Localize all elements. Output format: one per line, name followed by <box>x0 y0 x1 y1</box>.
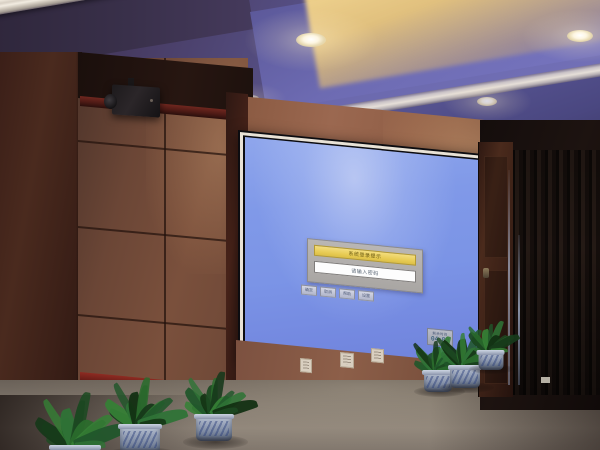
projector-status-led <box>150 99 153 102</box>
door-handle-icon[interactable] <box>483 268 489 278</box>
downlight-8-icon <box>567 30 593 42</box>
wall-outlet-right <box>340 352 354 368</box>
plant-left-3 <box>196 372 232 443</box>
dialog-button-1[interactable]: 确定 <box>301 284 317 296</box>
dialog-button-4[interactable]: 设置 <box>358 290 374 302</box>
wall-outlet-far <box>371 348 384 363</box>
projected-dialog[interactable]: 系统登录提示 请输入密码 <box>307 238 423 293</box>
downlight-1-icon <box>296 33 326 47</box>
dialog-button-3[interactable]: 帮助 <box>339 288 355 300</box>
plant-pot-rim <box>477 350 505 355</box>
plant-left-2 <box>120 378 160 450</box>
plant-pot-rim <box>49 445 101 450</box>
dialog-button-2[interactable]: 取消 <box>320 286 336 298</box>
door-panel-upper <box>484 156 508 258</box>
curtain-light-gap <box>518 235 520 385</box>
curtain-shading <box>512 150 600 395</box>
downlight-5-icon <box>477 97 497 106</box>
projector-lens-icon <box>104 94 117 109</box>
curtain-floor-object <box>541 377 550 383</box>
plant-pot <box>478 352 503 370</box>
plant-pot <box>196 416 232 441</box>
plant-right-3 <box>478 320 503 371</box>
plant-left-1 <box>52 392 98 450</box>
plant-pot <box>120 426 160 450</box>
wall-outlet-left <box>300 358 312 373</box>
plant-pot-rim <box>422 370 453 375</box>
plant-pot-rim <box>118 424 163 429</box>
room-photo-scene: 系统登录提示 请输入密码 确定取消帮助设置 剩余时间 04:09 <box>0 0 600 450</box>
door-edge-light <box>508 170 510 385</box>
plant-pot-rim <box>194 414 234 419</box>
seam-h-3 <box>78 314 248 332</box>
